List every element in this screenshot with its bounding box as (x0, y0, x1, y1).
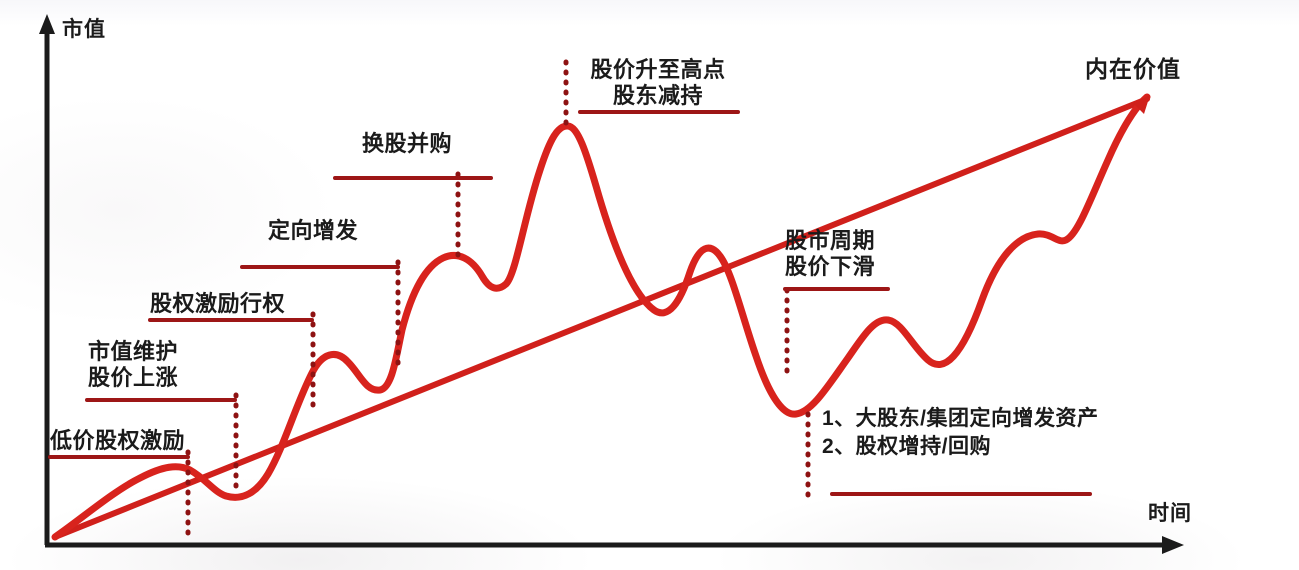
annotation-equity-incentive-exercise: 股权激励行权 (150, 291, 285, 317)
action-list-item-1: 1、大股东/集团定向增发资产 (822, 405, 1099, 433)
annotation-market-value-maintenance-line1: 市值维护 (88, 339, 178, 365)
intrinsic-value-label: 内在价值 (1085, 56, 1181, 83)
underline-private-placement (240, 265, 400, 269)
chart-canvas: 市值 时间 内在价值 低价股权激励 市值维护 股价上涨 股权激励行权 定向增发 … (0, 0, 1299, 570)
x-axis-arrowhead (1162, 536, 1184, 554)
annotation-price-peak-line1: 股价升至高点 (575, 57, 741, 83)
annotation-price-peak-line2: 股东减持 (575, 83, 741, 109)
action-list: 1、大股东/集团定向增发资产 2、股权增持/回购 (822, 405, 1099, 462)
underline-equity-incentive-exercise (148, 318, 314, 322)
x-axis-label: 时间 (1148, 502, 1192, 526)
annotation-share-swap-merger: 换股并购 (362, 131, 452, 157)
annotation-low-price-equity-incentive: 低价股权激励 (50, 428, 185, 454)
annotation-private-placement: 定向增发 (268, 218, 358, 244)
y-axis-label: 市值 (62, 18, 106, 42)
underline-low-price-equity-incentive (48, 455, 190, 459)
annotation-market-value-maintenance: 市值维护 股价上涨 (88, 339, 178, 390)
annotation-market-cycle-line2: 股价下滑 (785, 254, 875, 280)
underline-price-peak-shareholder-reduction (578, 110, 740, 114)
underline-share-swap-merger (333, 176, 493, 180)
annotation-price-peak-shareholder-reduction: 股价升至高点 股东减持 (575, 57, 741, 108)
underline-action-list (830, 492, 1092, 496)
annotation-market-value-maintenance-line2: 股价上涨 (88, 365, 178, 391)
underline-market-value-maintenance (85, 398, 237, 402)
action-list-item-2: 2、股权增持/回购 (822, 433, 1099, 461)
y-axis-arrowhead (39, 14, 55, 34)
annotation-market-cycle-line1: 股市周期 (785, 228, 875, 254)
annotation-market-cycle-price-decline: 股市周期 股价下滑 (785, 228, 875, 279)
underline-market-cycle-price-decline (783, 287, 890, 291)
